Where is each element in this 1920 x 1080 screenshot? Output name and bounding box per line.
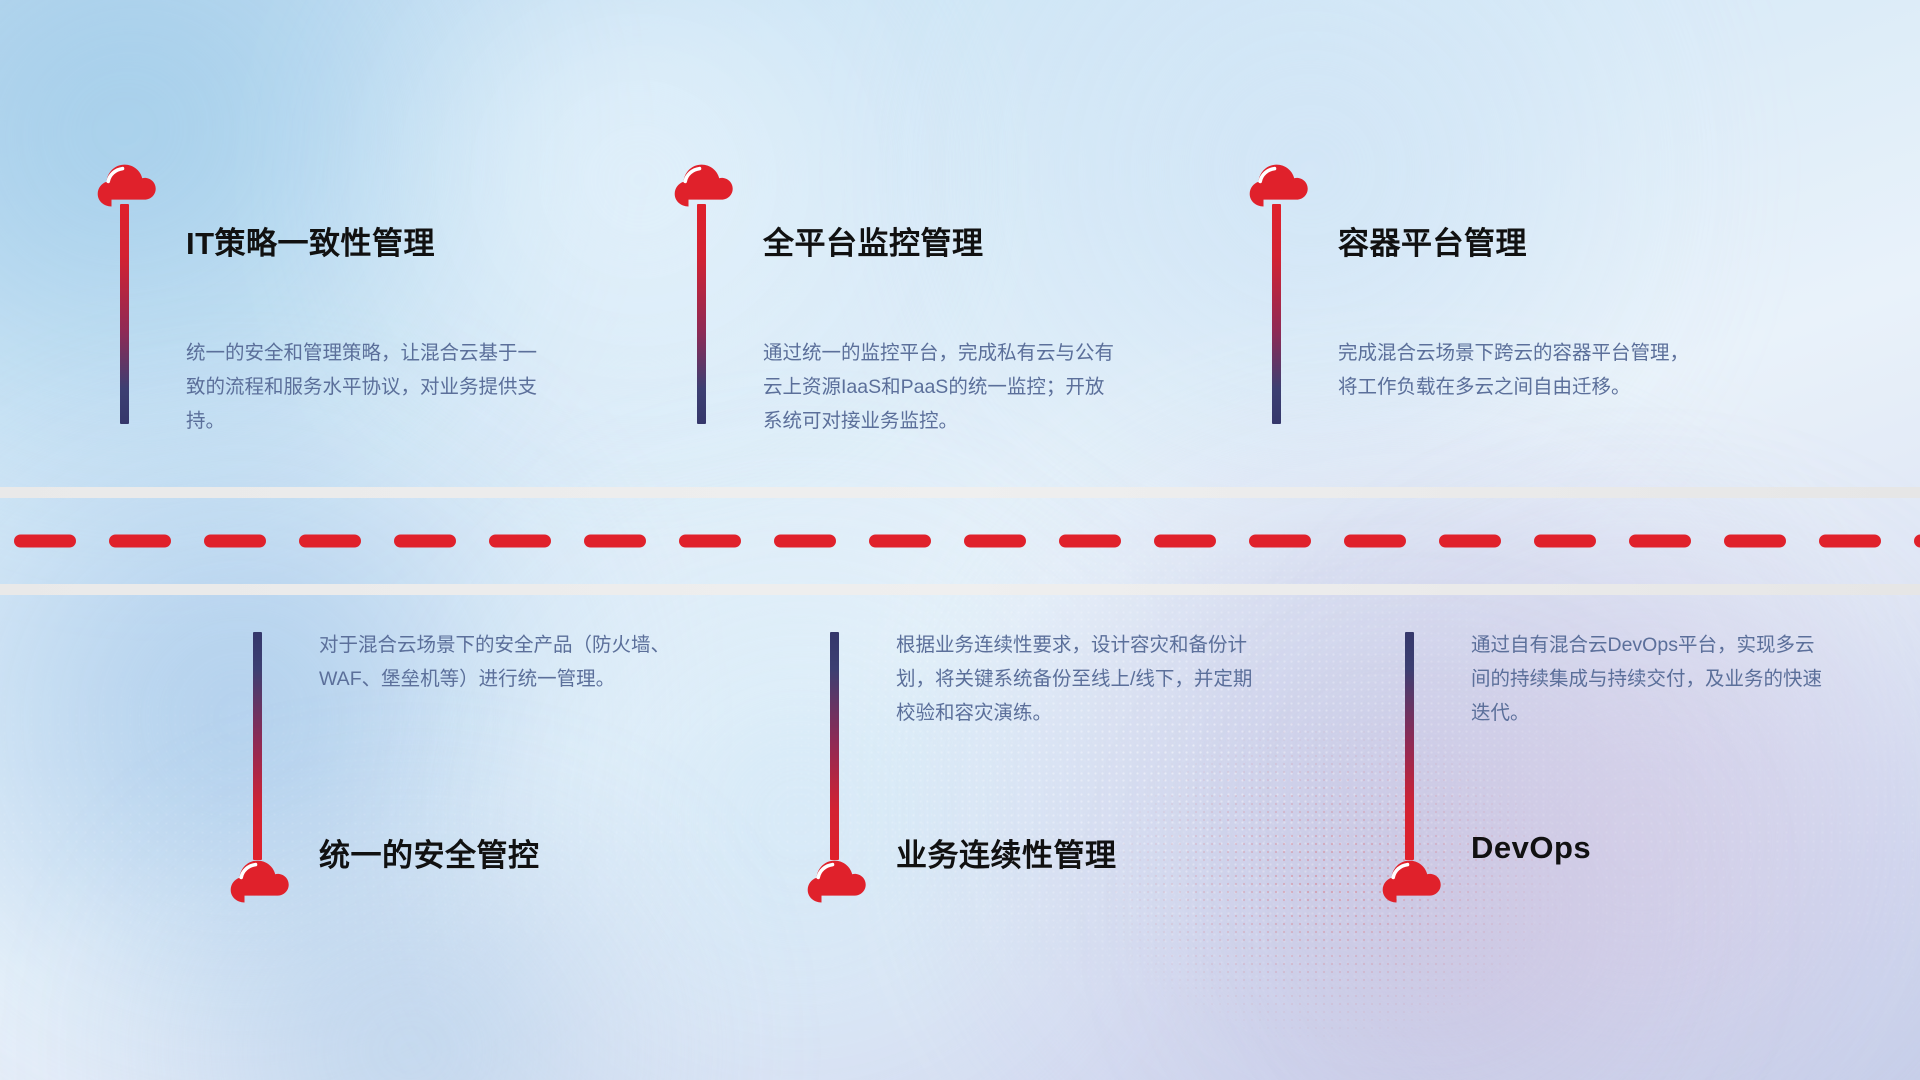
divider-bar-top: [0, 487, 1920, 498]
feature-title: 全平台监控管理: [763, 218, 984, 263]
feature-title: 业务连续性管理: [896, 830, 1117, 875]
divider-dash: [679, 535, 741, 548]
feature-description: 统一的安全和管理策略，让混合云基于一致的流程和服务水平协议，对业务提供支持。: [186, 336, 546, 438]
stem-connector: [697, 204, 706, 424]
stem-connector: [1405, 632, 1414, 860]
divider-dash: [869, 535, 931, 548]
cloud-icon: [804, 856, 866, 903]
cloud-icon: [1246, 160, 1308, 207]
feature-description: 完成混合云场景下跨云的容器平台管理，将工作负载在多云之间自由迁移。: [1338, 336, 1698, 404]
cloud-icon: [94, 160, 156, 207]
divider-dash: [1439, 535, 1501, 548]
cloud-icon: [1379, 856, 1441, 903]
feature-title: IT策略一致性管理: [186, 218, 435, 263]
divider-dash: [1249, 535, 1311, 548]
feature-description: 对于混合云场景下的安全产品（防火墙、WAF、堡垒机等）进行统一管理。: [319, 628, 679, 696]
divider-dash: [489, 535, 551, 548]
divider-dashed-line: [0, 535, 1920, 548]
divider-dash: [204, 535, 266, 548]
divider-dash: [394, 535, 456, 548]
divider-dash: [1914, 535, 1920, 548]
divider-dash: [1629, 535, 1691, 548]
divider-dash: [299, 535, 361, 548]
divider-dash: [1724, 535, 1786, 548]
divider-dash: [14, 535, 76, 548]
divider-dash: [964, 535, 1026, 548]
cloud-icon: [671, 160, 733, 207]
feature-description: 通过自有混合云DevOps平台，实现多云间的持续集成与持续交付，及业务的快速迭代…: [1471, 628, 1831, 730]
divider-dash: [109, 535, 171, 548]
divider-dash: [1154, 535, 1216, 548]
stem-connector: [253, 632, 262, 860]
divider-dash: [1059, 535, 1121, 548]
divider-bar-bottom: [0, 584, 1920, 595]
feature-description: 根据业务连续性要求，设计容灾和备份计划，将关键系统备份至线上/线下，并定期校验和…: [896, 628, 1256, 730]
feature-description: 通过统一的监控平台，完成私有云与公有云上资源IaaS和PaaS的统一监控；开放系…: [763, 336, 1123, 438]
feature-title: 统一的安全管控: [319, 830, 540, 875]
divider-dash: [1344, 535, 1406, 548]
stem-connector: [120, 204, 129, 424]
feature-title: DevOps: [1471, 830, 1591, 866]
divider-dash: [1819, 535, 1881, 548]
cloud-icon: [227, 856, 289, 903]
divider-dash: [774, 535, 836, 548]
section-divider: [0, 487, 1920, 595]
infographic-canvas: IT策略一致性管理 统一的安全和管理策略，让混合云基于一致的流程和服务水平协议，…: [0, 0, 1920, 1080]
feature-title: 容器平台管理: [1338, 218, 1527, 263]
stem-connector: [1272, 204, 1281, 424]
divider-dash: [584, 535, 646, 548]
stem-connector: [830, 632, 839, 860]
divider-dash: [1534, 535, 1596, 548]
